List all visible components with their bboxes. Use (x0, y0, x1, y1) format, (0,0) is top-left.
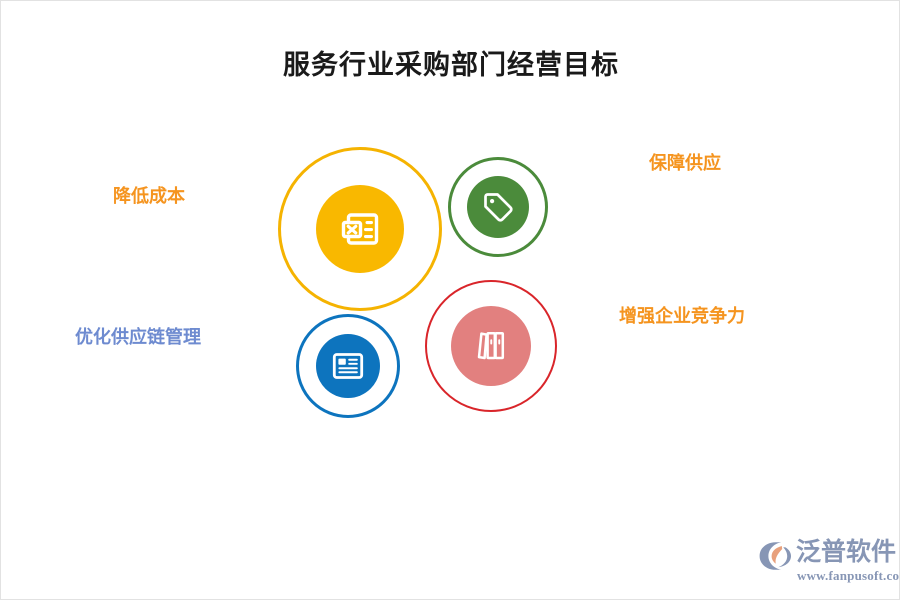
goal-disc-reduce-cost[interactable] (316, 185, 404, 273)
logo-url-text: www.fanpusoft.com (797, 568, 900, 584)
goal-disc-guarantee-supply[interactable] (467, 176, 529, 238)
logo-brand-text: 泛普软件 (796, 537, 896, 567)
goal-label-optimize-supply-chain: 优化供应链管理 (75, 328, 201, 346)
news-article-icon (329, 347, 367, 385)
books-icon (468, 323, 514, 369)
goal-disc-enhance-competitiveness[interactable] (451, 306, 531, 386)
brand-logo[interactable]: 泛普软件 www.fanpusoft.com (758, 537, 893, 587)
goal-label-enhance-competitiveness: 增强企业竞争力 (619, 307, 745, 325)
page-title: 服务行业采购部门经营目标 (1, 43, 900, 82)
goal-label-guarantee-supply: 保障供应 (649, 154, 721, 172)
infographic-canvas: 服务行业采购部门经营目标 降低成本 (0, 0, 900, 600)
goal-label-reduce-cost: 降低成本 (113, 187, 185, 205)
price-tag-icon (480, 189, 516, 225)
goal-disc-optimize-supply-chain[interactable] (316, 334, 380, 398)
invoice-document-icon (336, 205, 384, 253)
fanpu-logo-icon (758, 541, 794, 571)
